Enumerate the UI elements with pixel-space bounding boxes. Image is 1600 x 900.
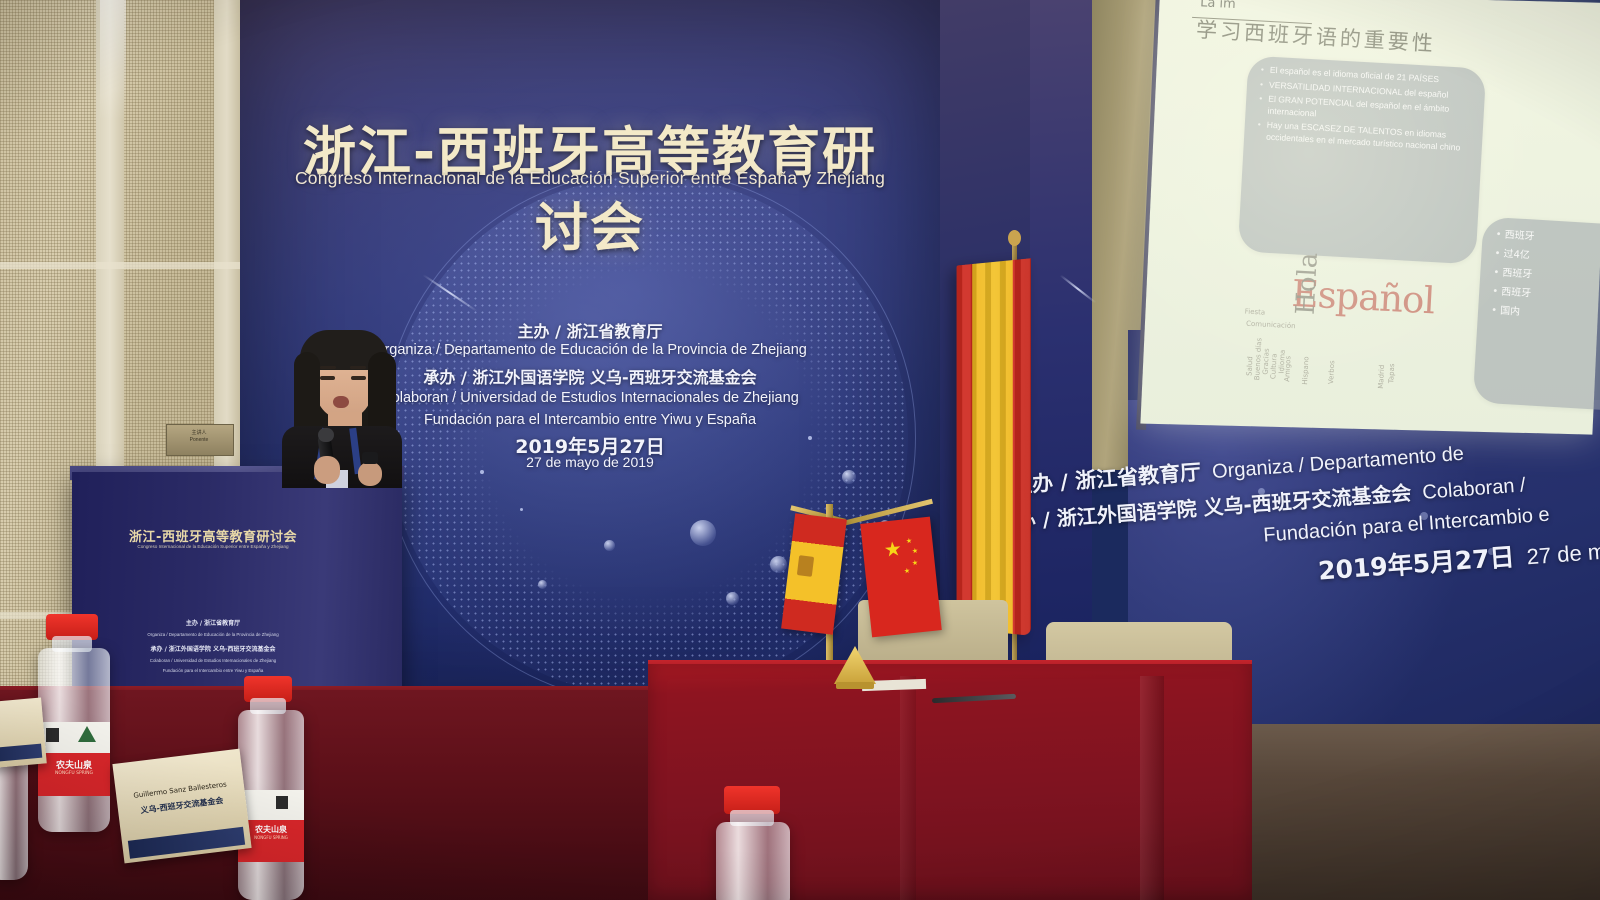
name-placard: Guillermo Sanz Ballesteros 义乌-西班牙交流基金会 bbox=[112, 749, 251, 864]
speaker-mouth bbox=[333, 396, 349, 408]
spain-flag-folds bbox=[957, 258, 1031, 635]
table-cloth-fold bbox=[1140, 676, 1164, 900]
speaker-eyebrow-right bbox=[350, 366, 366, 369]
podium-title-chinese: 浙江-西班牙高等教育研讨会 bbox=[88, 526, 338, 545]
bokeh-dot bbox=[538, 580, 547, 589]
wordcloud-small-word: Tapas bbox=[1387, 363, 1396, 383]
podium-credit-2: Organiza / Departamento de Educación de … bbox=[88, 632, 338, 637]
right-credit-date-es: 27 de m bbox=[1526, 539, 1600, 570]
podium-nameplate-es: Ponente bbox=[168, 437, 230, 444]
china-desk-flag bbox=[860, 517, 942, 638]
wall-glare bbox=[100, 0, 126, 120]
slide-bullet-bubble-spanish: El español es el idioma oficial de 21 PA… bbox=[1238, 56, 1487, 265]
wordcloud-secondary-word: Hola bbox=[1291, 252, 1324, 316]
bottle-barcode bbox=[46, 728, 59, 742]
china-flag-big-star: ★ bbox=[883, 539, 903, 561]
right-credit-es-2: Colaboran / bbox=[1422, 474, 1527, 504]
china-flag-small-star: ★ bbox=[904, 568, 911, 576]
speaker-eyebrow-left bbox=[320, 366, 336, 369]
wordcloud-small-word: Comunicación bbox=[1246, 320, 1296, 331]
wordcloud-small-word: Amigos bbox=[1283, 356, 1292, 382]
slide-bullet-cn: 国内 bbox=[1500, 302, 1600, 330]
podium-credit-3: 承办 / 浙江外国语学院 义乌-西班牙交流基金会 bbox=[88, 644, 338, 653]
speaker-hand-left bbox=[314, 456, 340, 484]
conference-photo-scene: 浙江-西班牙高等教育研讨会 Congreso Internacional de … bbox=[0, 0, 1600, 900]
spain-coat-of-arms bbox=[797, 555, 814, 577]
speaker-wristwatch bbox=[362, 452, 378, 464]
bottle-barcode bbox=[276, 796, 288, 809]
bokeh-dot bbox=[770, 556, 787, 573]
microphone-head bbox=[318, 428, 334, 442]
podium-title-spanish: Congreso Internacional de la Educación S… bbox=[88, 544, 338, 549]
bokeh-dot bbox=[690, 520, 716, 546]
slide-bullet-bubble-chinese: 西班牙 过4亿 西班牙 西班牙 国内 bbox=[1473, 217, 1600, 414]
wordcloud-small-word: Hispano bbox=[1301, 356, 1310, 385]
wordcloud-small-word: Fiesta bbox=[1245, 308, 1266, 317]
water-bottle bbox=[716, 822, 790, 900]
star-dot bbox=[520, 508, 523, 511]
speaker-hand-right bbox=[358, 462, 382, 486]
wordcloud-small-word: Madrid bbox=[1377, 365, 1386, 389]
speaker-eye-right bbox=[351, 376, 366, 380]
podium-credit-5: Fundación para el Intercambio entre Yiwu… bbox=[88, 668, 338, 673]
podium-nameplate-text: 主讲人 Ponente bbox=[168, 430, 230, 444]
wordcloud-small-word: Verbos bbox=[1327, 360, 1336, 384]
bokeh-dot bbox=[604, 540, 615, 551]
star-dot bbox=[480, 470, 484, 474]
backdrop-title-spanish: Congreso Internacional de la Educación S… bbox=[290, 168, 890, 189]
bokeh-dot bbox=[842, 470, 856, 484]
wall-seam bbox=[0, 262, 262, 269]
podium-credit-1: 主办 / 浙江省教育厅 bbox=[88, 618, 338, 627]
gold-trophy-base bbox=[836, 682, 874, 689]
speaker-eye-left bbox=[320, 376, 335, 380]
bokeh-dot bbox=[726, 592, 739, 605]
china-flag-small-star: ★ bbox=[912, 560, 919, 568]
bottle-brand-en: NONGFU SPRING bbox=[38, 771, 110, 776]
name-placard bbox=[0, 698, 47, 769]
placard-footer-strip bbox=[0, 744, 42, 762]
china-flag-small-star: ★ bbox=[906, 538, 913, 546]
china-flag-small-star: ★ bbox=[912, 548, 919, 556]
podium-nameplate-cn: 主讲人 bbox=[168, 430, 230, 437]
flag-pole-finial bbox=[1008, 230, 1021, 246]
table-cloth-fold bbox=[900, 676, 916, 900]
slide-wordcloud: Español Hola Salud Buenos días Gracias C… bbox=[1227, 263, 1433, 393]
podium-credit-4: Colaboran / Universidad de Estudios Inte… bbox=[88, 658, 338, 663]
bottle-logo-mountain bbox=[78, 726, 96, 742]
